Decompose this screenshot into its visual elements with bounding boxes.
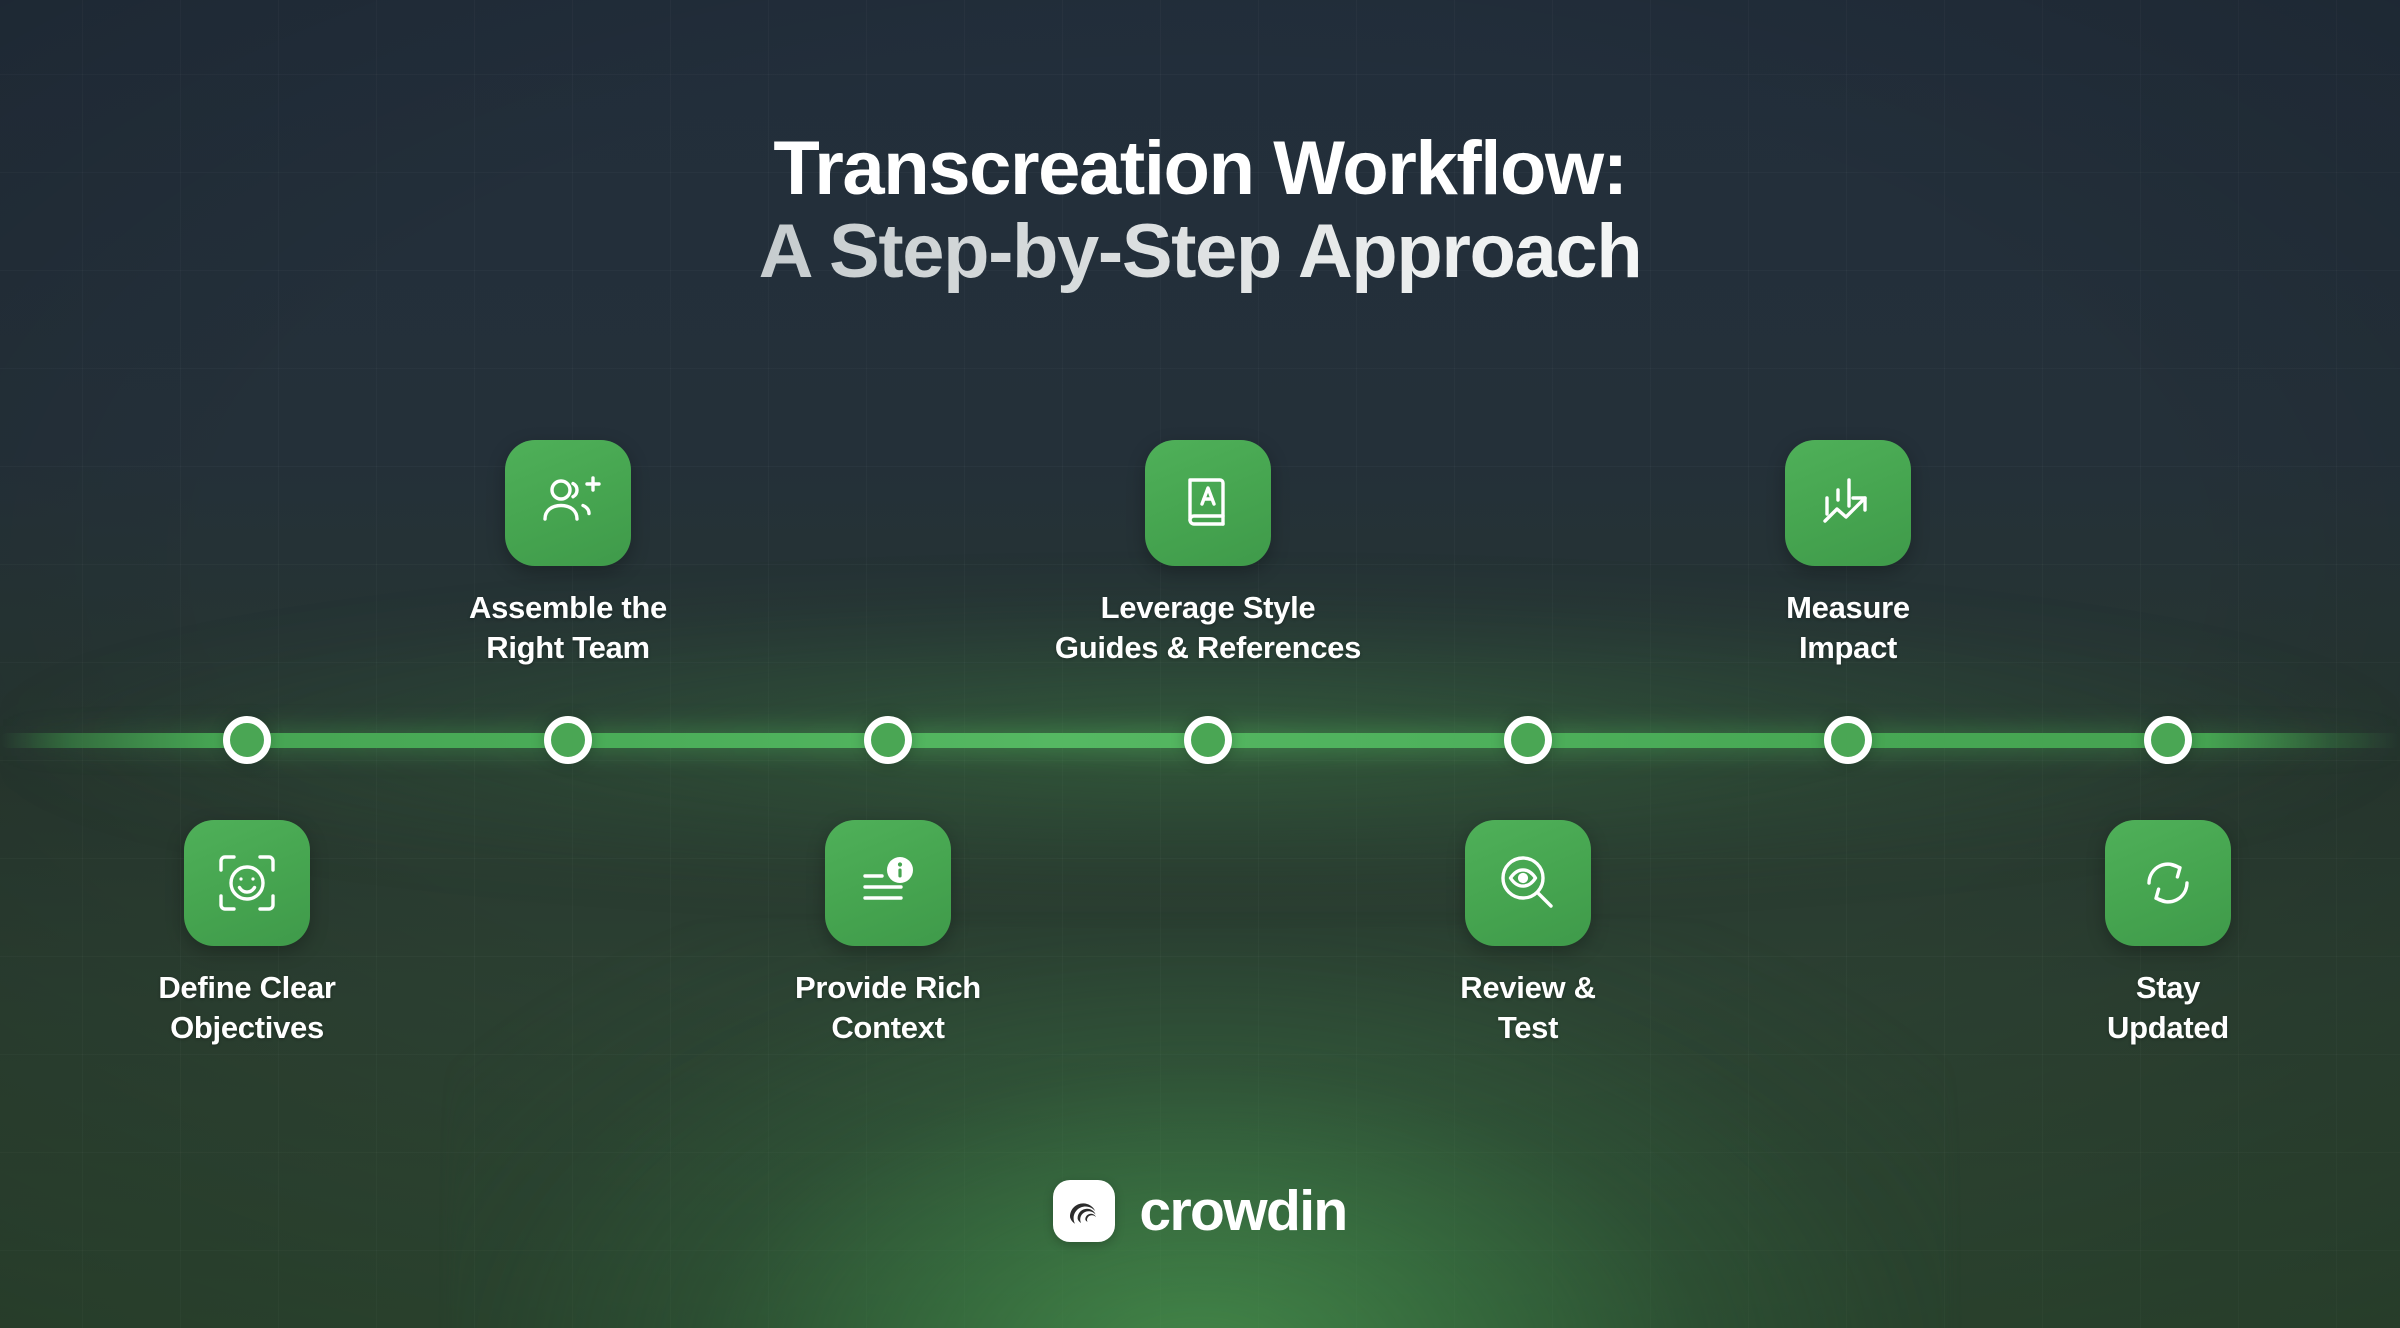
timeline-node-3[interactable] (864, 716, 912, 764)
user-plus-icon (505, 440, 631, 566)
timeline-node-6[interactable] (1824, 716, 1872, 764)
timeline-node-5[interactable] (1504, 716, 1552, 764)
book-letter-a-icon (1145, 440, 1271, 566)
step-2[interactable]: Assemble the Right Team (403, 440, 733, 669)
step-label-5: Review & Test (1363, 968, 1693, 1049)
step-4[interactable]: Leverage Style Guides & References (1043, 440, 1373, 669)
step-label-1: Define Clear Objectives (82, 968, 412, 1049)
refresh-sync-icon (2105, 820, 2231, 946)
magnifier-eye-icon (1465, 820, 1591, 946)
step-6[interactable]: Measure Impact (1683, 440, 2013, 669)
step-7[interactable]: Stay Updated (2003, 820, 2333, 1049)
crowdin-logo-icon (1053, 1180, 1115, 1242)
step-label-6: Measure Impact (1683, 588, 2013, 669)
timeline-node-2[interactable] (544, 716, 592, 764)
brand-wordmark: crowdin (1139, 1183, 1346, 1240)
infographic-canvas: Transcreation Workflow: A Step-by-Step A… (0, 0, 2400, 1328)
step-3[interactable]: Provide Rich Context (723, 820, 1053, 1049)
text-lines-info-icon (825, 820, 951, 946)
step-label-7: Stay Updated (2003, 968, 2333, 1049)
title-line-secondary: A Step-by-Step Approach (0, 211, 2400, 294)
bar-chart-arrow-up-icon (1785, 440, 1911, 566)
title-line-primary: Transcreation Workflow: (0, 128, 2400, 211)
face-scan-icon (184, 820, 310, 946)
page-title: Transcreation Workflow: A Step-by-Step A… (0, 128, 2400, 294)
step-label-3: Provide Rich Context (723, 968, 1053, 1049)
brand-logo[interactable]: crowdin (0, 1180, 2400, 1242)
step-1[interactable]: Define Clear Objectives (82, 820, 412, 1049)
step-label-4: Leverage Style Guides & References (1043, 588, 1373, 669)
timeline-node-4[interactable] (1184, 716, 1232, 764)
step-5[interactable]: Review & Test (1363, 820, 1693, 1049)
timeline-node-1[interactable] (223, 716, 271, 764)
step-label-2: Assemble the Right Team (403, 588, 733, 669)
timeline-node-7[interactable] (2144, 716, 2192, 764)
